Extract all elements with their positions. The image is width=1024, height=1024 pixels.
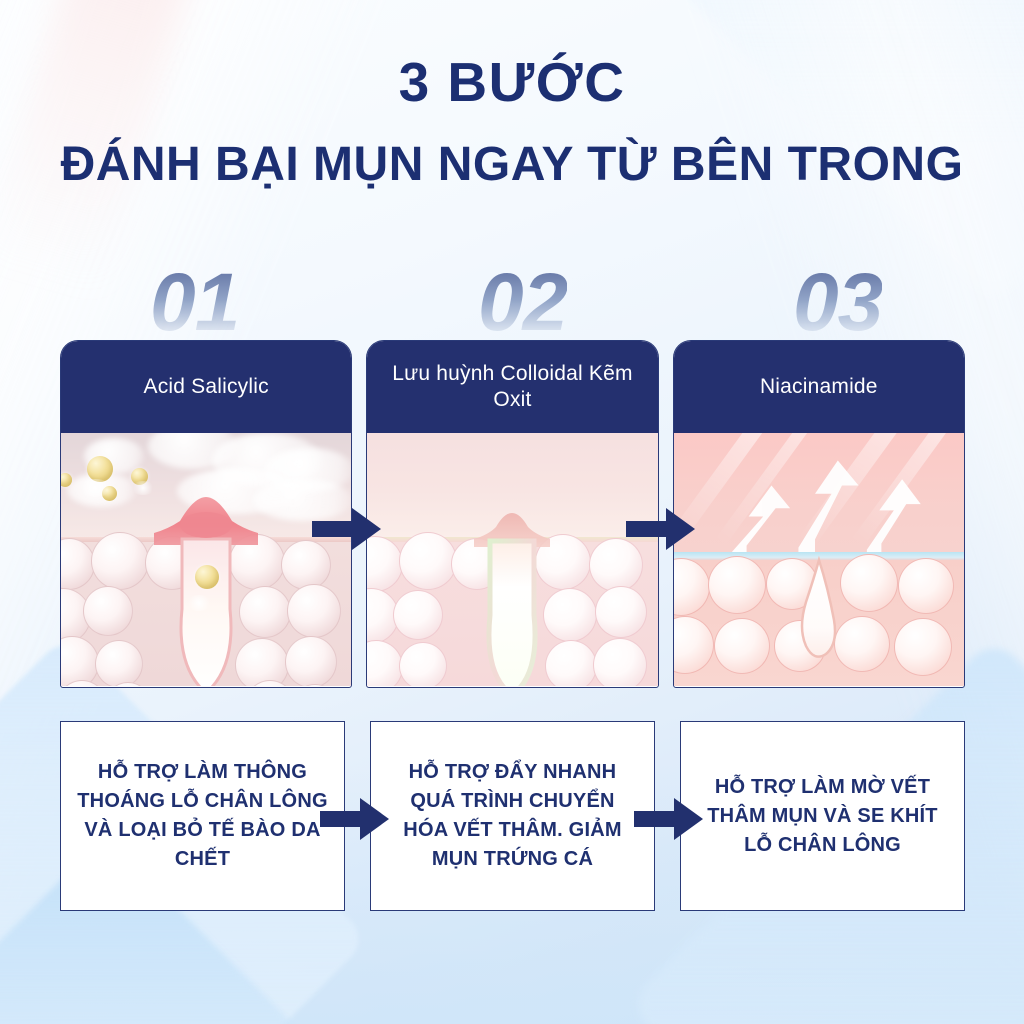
connector-arrow-top-1 [312, 505, 382, 553]
step-number-watermark-01: 01 [150, 262, 239, 344]
step-number-watermark-03: 03 [793, 262, 882, 344]
clean-pore-2 [452, 489, 572, 686]
benefit-text-1: HỖ TRỢ LÀM THÔNG THOÁNG LỖ CHÂN LÔNG VÀ … [75, 758, 330, 874]
skin-illustration-3 [674, 433, 964, 686]
oil-droplet-in-pore [195, 565, 219, 589]
connector-arrow-bottom-2 [634, 795, 704, 843]
tightened-pore-3 [774, 554, 864, 686]
skin-illustration-2 [367, 433, 657, 686]
benefit-text-2: HỖ TRỢ ĐẨY NHANH QUÁ TRÌNH CHUYỂN HÓA VẾ… [385, 758, 640, 874]
ingredient-card-3[interactable]: Niacinamide [673, 340, 965, 688]
ingredient-card-2-title: Lưu huỳnh Colloidal Kẽm Oxit [379, 361, 645, 414]
title-line-2: ĐÁNH BẠI MỤN NGAY TỪ BÊN TRONG [0, 140, 1024, 190]
connector-arrow-top-2 [626, 505, 696, 553]
ingredient-card-3-title: Niacinamide [760, 374, 878, 400]
ingredient-card-2-header: Lưu huỳnh Colloidal Kẽm Oxit [367, 341, 657, 433]
oil-droplet [87, 456, 113, 482]
benefit-boxes-row: HỖ TRỢ LÀM THÔNG THOÁNG LỖ CHÂN LÔNG VÀ … [60, 721, 965, 911]
infographic-stage: 3 BƯỚC ĐÁNH BẠI MỤN NGAY TỪ BÊN TRONG 01… [0, 0, 1024, 1024]
ingredient-card-2[interactable]: Lưu huỳnh Colloidal Kẽm Oxit [366, 340, 658, 688]
benefit-box-1[interactable]: HỖ TRỢ LÀM THÔNG THOÁNG LỖ CHÂN LÔNG VÀ … [60, 721, 345, 911]
page-title: 3 BƯỚC ĐÁNH BẠI MỤN NGAY TỪ BÊN TRONG [0, 54, 1024, 190]
ingredient-cards-row: Acid Salicylic [60, 340, 965, 688]
benefit-box-2[interactable]: HỖ TRỢ ĐẨY NHANH QUÁ TRÌNH CHUYỂN HÓA VẾ… [370, 721, 655, 911]
ingredient-card-1-title: Acid Salicylic [143, 374, 268, 400]
connector-arrow-bottom-1 [320, 795, 390, 843]
ingredient-card-1[interactable]: Acid Salicylic [60, 340, 352, 688]
title-line-1: 3 BƯỚC [0, 54, 1024, 112]
skin-illustration-1 [61, 433, 351, 686]
step-number-watermarks: 01 02 03 [0, 262, 1024, 352]
benefit-box-3[interactable]: HỖ TRỢ LÀM MỜ VẾT THÂM MỤN VÀ SE KHÍT LỖ… [680, 721, 965, 911]
ingredient-card-1-header: Acid Salicylic [61, 341, 351, 433]
ingredient-card-3-header: Niacinamide [674, 341, 964, 433]
benefit-text-3: HỖ TRỢ LÀM MỜ VẾT THÂM MỤN VÀ SE KHÍT LỖ… [695, 773, 950, 860]
exfoliation-sparkle [186, 595, 212, 611]
exfoliation-sparkle [78, 479, 112, 497]
step-number-watermark-02: 02 [478, 262, 567, 344]
